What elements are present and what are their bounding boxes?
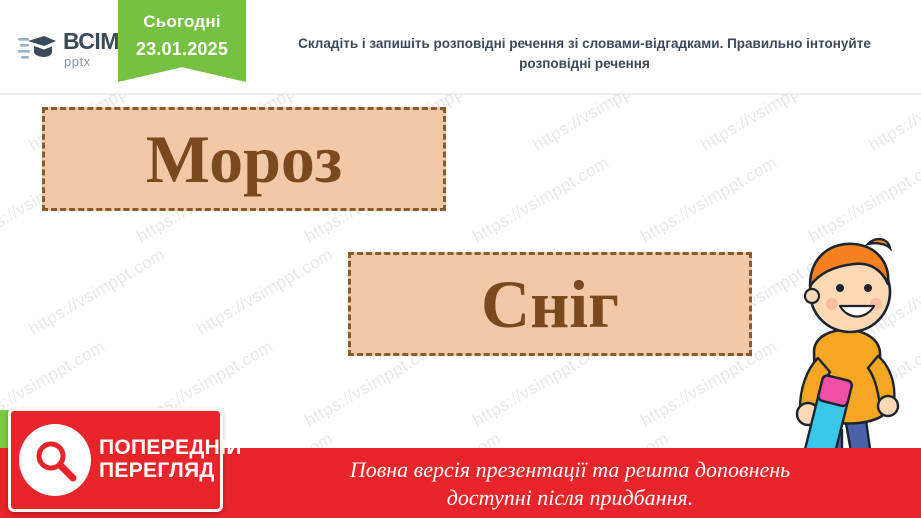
bottom-banner-line2: доступні після придбання.	[225, 484, 915, 512]
preview-badge-text: ПОПЕРЕДНІЙ ПЕРЕГЛЯД	[99, 437, 242, 482]
preview-badge-line2: ПЕРЕГЛЯД	[99, 460, 242, 483]
date-flag-date: 23.01.2025	[118, 39, 246, 60]
bottom-banner-line1: Повна версія презентації та решта доповн…	[225, 456, 915, 484]
logo-suffix: pptx	[64, 55, 119, 68]
word-card-snig-label: Сніг	[481, 270, 619, 338]
header: ВСІМ pptx Сьогодні 23.01.2025 Складіть і…	[0, 0, 921, 94]
slide: https://vsimppt.comhttps://vsimppt.comht…	[0, 0, 921, 518]
logo-text: ВСІМ pptx	[63, 30, 119, 68]
logo[interactable]: ВСІМ pptx	[18, 30, 119, 68]
date-flag: Сьогодні 23.01.2025	[118, 0, 246, 82]
graduation-cap-icon	[18, 32, 56, 66]
word-card-moroz-label: Мороз	[146, 125, 342, 193]
date-flag-today-label: Сьогодні	[118, 12, 246, 32]
task-instruction: Складіть і запишіть розповідні речення з…	[262, 34, 907, 73]
preview-badge[interactable]: ПОПЕРЕДНІЙ ПЕРЕГЛЯД	[8, 408, 223, 512]
watermark-text: https://vsimppt.com	[193, 245, 336, 339]
preview-badge-line1: ПОПЕРЕДНІЙ	[99, 437, 242, 460]
magnifier-icon	[19, 424, 91, 496]
word-card-snig: Сніг	[348, 252, 752, 356]
watermark-text: https://vsimppt.com	[25, 245, 168, 339]
header-divider	[0, 93, 921, 95]
word-card-moroz: Мороз	[42, 107, 446, 211]
bottom-banner-text: Повна версія презентації та решта доповн…	[225, 456, 915, 511]
watermark-text: https://vsimppt.com	[637, 153, 780, 247]
logo-brand: ВСІМ	[63, 30, 119, 53]
watermark-text: https://vsimppt.com	[469, 153, 612, 247]
